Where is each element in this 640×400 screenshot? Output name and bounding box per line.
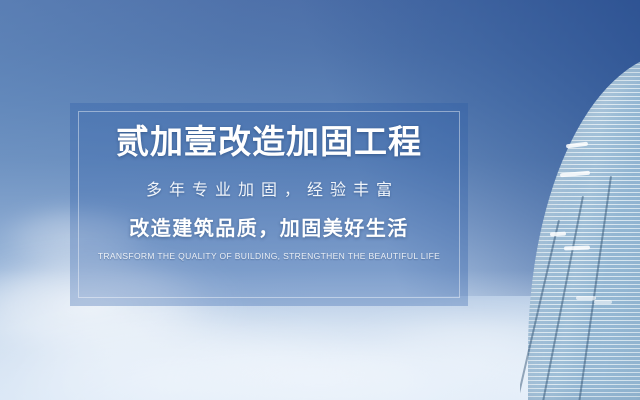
banner-headline: 贰加壹改造加固工程 — [70, 123, 468, 162]
skyscraper-window-glint — [576, 296, 596, 300]
skyscraper — [520, 0, 640, 400]
skyscraper-window-glint — [550, 232, 566, 237]
banner-english-tagline: TRANSFORM THE QUALITY OF BUILDING, STREN… — [70, 251, 468, 261]
banner-text-panel: 贰加壹改造加固工程 多年专业加固，经验丰富 改造建筑品质，加固美好生活 TRAN… — [70, 103, 468, 306]
banner-subline: 多年专业加固，经验丰富 — [70, 176, 468, 200]
skyscraper-window-glint — [594, 300, 612, 304]
panel-content: 贰加壹改造加固工程 多年专业加固，经验丰富 改造建筑品质，加固美好生活 TRAN… — [70, 123, 468, 261]
banner-image: 贰加壹改造加固工程 多年专业加固，经验丰富 改造建筑品质，加固美好生活 TRAN… — [0, 0, 640, 400]
banner-slogan: 改造建筑品质，加固美好生活 — [70, 212, 468, 241]
skyscraper-sheen — [528, 52, 640, 400]
